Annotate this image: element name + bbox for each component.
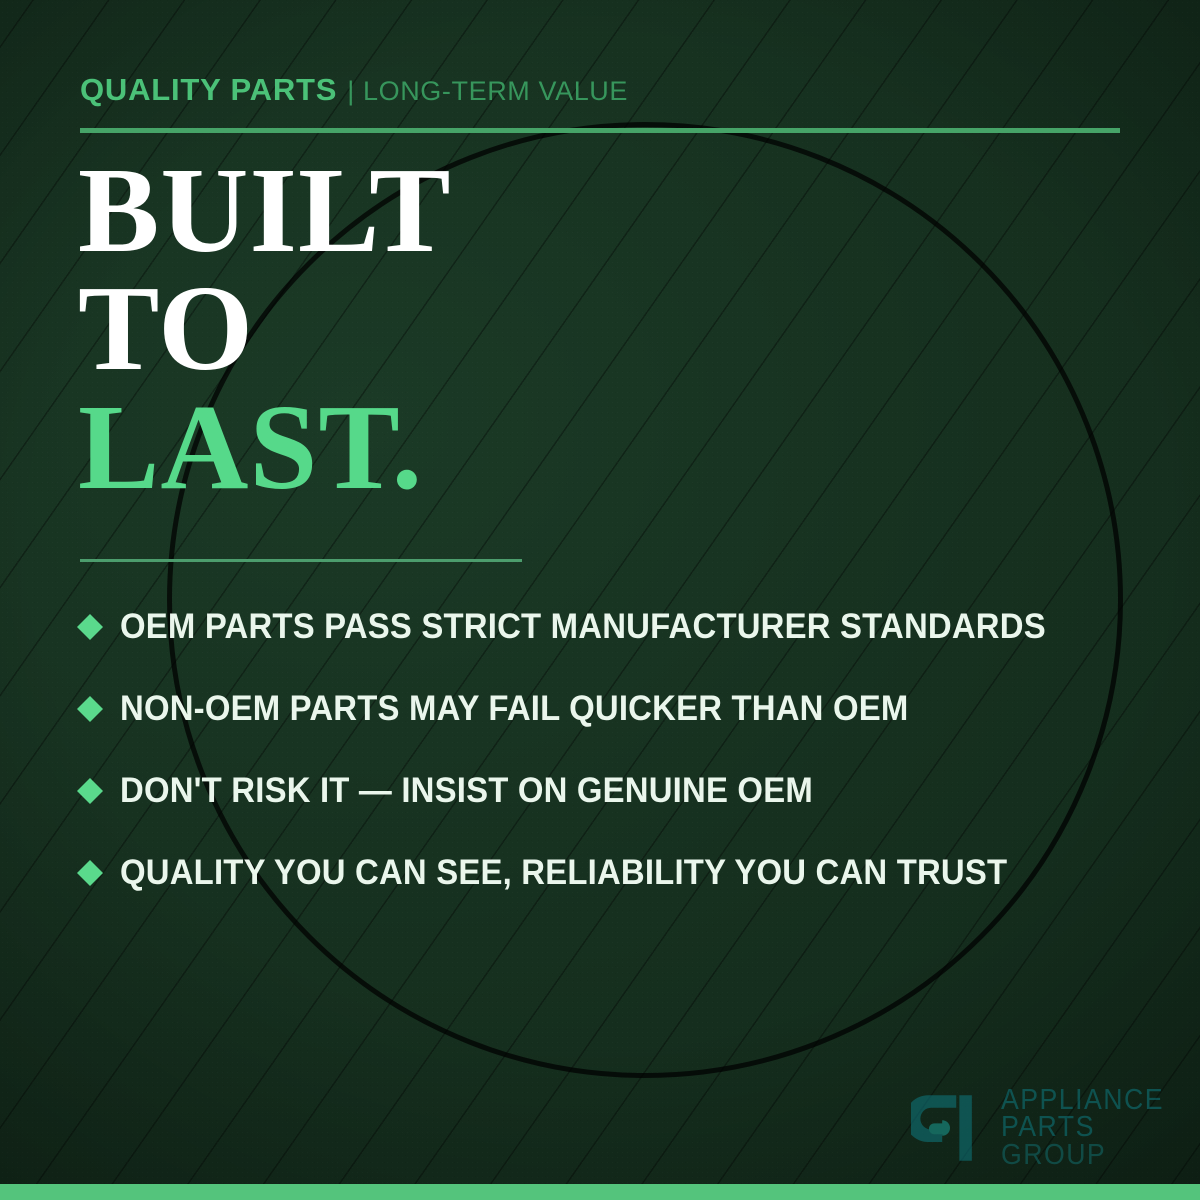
- diamond-bullet-icon: [77, 614, 103, 640]
- diamond-bullet-icon: [77, 696, 103, 722]
- diamond-bullet-icon: [77, 778, 103, 804]
- list-item-label: QUALITY YOU CAN SEE, RELIABILITY YOU CAN…: [120, 853, 1007, 893]
- brand-word-appliance: APPLIANCE: [1001, 1087, 1164, 1115]
- list-item-label: OEM PARTS PASS STRICT MANUFACTURER STAND…: [120, 607, 1046, 647]
- list-item: DON'T RISK IT — INSIST ON GENUINE OEM: [80, 750, 1140, 832]
- brand-logo-wordmark: APPLIANCE PARTS GROUP: [1001, 1087, 1178, 1170]
- diamond-bullet-icon: [77, 860, 103, 886]
- list-item: OEM PARTS PASS STRICT MANUFACTURER STAND…: [80, 586, 1140, 668]
- list-item: QUALITY YOU CAN SEE, RELIABILITY YOU CAN…: [80, 832, 1140, 914]
- bottom-accent-bar: [0, 1184, 1200, 1200]
- brand-word-group: GROUP: [1001, 1142, 1164, 1170]
- headline-line-3: LAST.: [78, 389, 452, 507]
- list-item-label: NON-OEM PARTS MAY FAIL QUICKER THAN OEM: [120, 689, 908, 729]
- benefit-list: OEM PARTS PASS STRICT MANUFACTURER STAND…: [80, 586, 1140, 914]
- brand-logo: APPLIANCE PARTS GROUP: [911, 1087, 1178, 1170]
- eyebrow-sub-label: | LONG-TERM VALUE: [347, 76, 628, 107]
- page-title: BUILT TO LAST.: [78, 152, 452, 507]
- poster-content: QUALITY PARTS | LONG-TERM VALUE BUILT TO…: [0, 0, 1200, 1200]
- list-item: NON-OEM PARTS MAY FAIL QUICKER THAN OEM: [80, 668, 1140, 750]
- g-monogram-icon: [911, 1089, 989, 1167]
- header-divider-rule: [80, 128, 1120, 133]
- list-item-label: DON'T RISK IT — INSIST ON GENUINE OEM: [120, 771, 813, 811]
- headline-line-1: BUILT: [78, 152, 452, 270]
- headline-divider-rule: [80, 559, 522, 562]
- eyebrow: QUALITY PARTS | LONG-TERM VALUE: [80, 72, 628, 108]
- brand-word-parts: PARTS: [1001, 1114, 1164, 1142]
- promo-poster: QUALITY PARTS | LONG-TERM VALUE BUILT TO…: [0, 0, 1200, 1200]
- headline-line-2: TO: [78, 270, 452, 388]
- eyebrow-main-label: QUALITY PARTS: [80, 72, 337, 108]
